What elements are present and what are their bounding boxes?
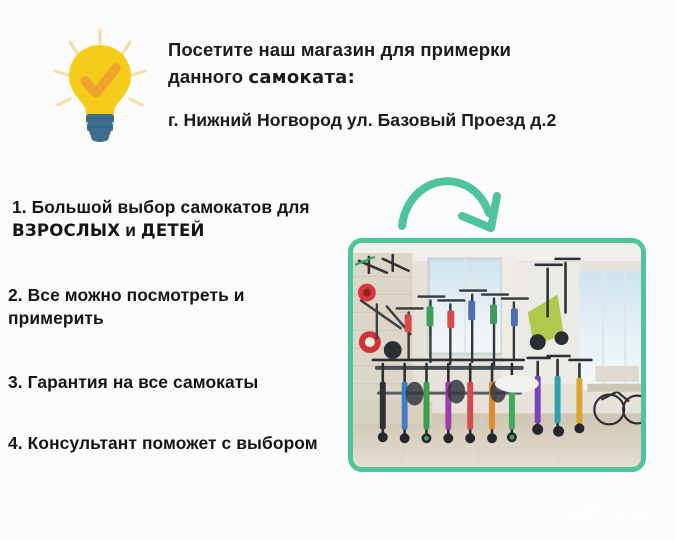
list-item: 1. Большой выбор самокатов для ВЗРОСЛЫХ … — [12, 196, 332, 242]
headline-line-2-strong: самоката: — [248, 67, 355, 88]
shop-address: г. Нижний Ногвород ул. Базовый Проезд д.… — [168, 110, 675, 131]
headline-line-1: Посетите наш магазин для примерки — [168, 39, 511, 60]
avito-wordmark: Avito — [601, 504, 650, 526]
scooter-shop-photo-frame — [348, 238, 646, 472]
benefit-1-caps-children: ДЕТЕЙ — [141, 221, 205, 240]
list-item: 4. Консультант поможет с выбором — [8, 432, 328, 455]
poster-canvas: Посетите наш магазин для примерки данног… — [0, 0, 675, 540]
benefit-1-caps-adults: ВЗРОСЛЫХ — [12, 221, 120, 240]
benefit-1-conjunction: и — [120, 220, 141, 240]
benefit-1-lead: 1. Большой выбор самокатов для — [12, 197, 310, 217]
list-item: 2. Все можно посмотреть и примерить — [8, 284, 328, 330]
curved-arrow-down-right-icon — [396, 166, 526, 238]
list-item: 3. Гарантия на все самокаты — [8, 371, 338, 394]
avito-watermark: Avito — [568, 500, 668, 526]
lightbulb-check-icon — [44, 26, 156, 144]
headline-line-2-prefix: данного — [168, 66, 248, 87]
page-title: Посетите наш магазин для примерки данног… — [168, 36, 668, 92]
scooter-shop-interior-photo — [353, 243, 641, 467]
